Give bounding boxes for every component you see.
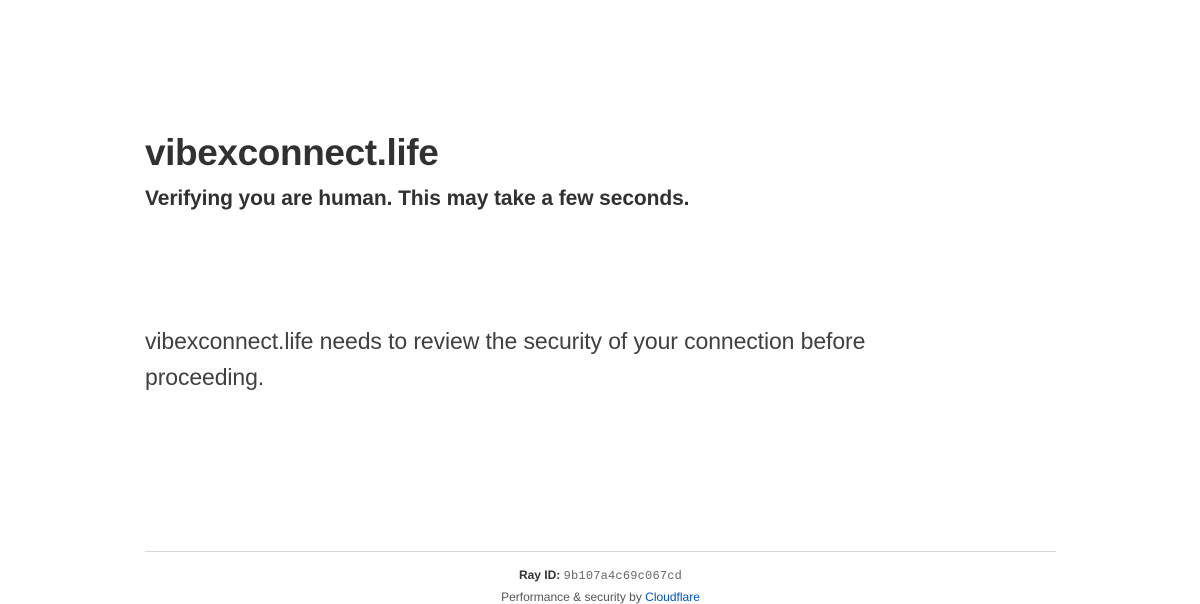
- footer: Ray ID: 9b107a4c69c067cd Performance & s…: [145, 551, 1056, 604]
- content-column: vibexconnect.life Verifying you are huma…: [145, 0, 1056, 395]
- cloudflare-link[interactable]: Cloudflare: [645, 590, 700, 604]
- challenge-page: vibexconnect.life Verifying you are huma…: [0, 0, 1200, 600]
- page-title: vibexconnect.life: [145, 130, 1056, 176]
- footer-credit-row: Performance & security by Cloudflare: [145, 583, 1056, 604]
- header-block: vibexconnect.life Verifying you are huma…: [145, 0, 1056, 213]
- ray-id-row: Ray ID: 9b107a4c69c067cd: [145, 552, 1056, 583]
- ray-id-value: 9b107a4c69c067cd: [564, 569, 682, 583]
- ray-id-label: Ray ID:: [519, 568, 560, 582]
- turnstile-challenge-widget[interactable]: [145, 221, 445, 313]
- verification-status-text: Verifying you are human. This may take a…: [145, 176, 1056, 213]
- security-review-description: vibexconnect.life needs to review the se…: [145, 313, 945, 395]
- footer-credit-prefix: Performance & security by: [501, 590, 645, 604]
